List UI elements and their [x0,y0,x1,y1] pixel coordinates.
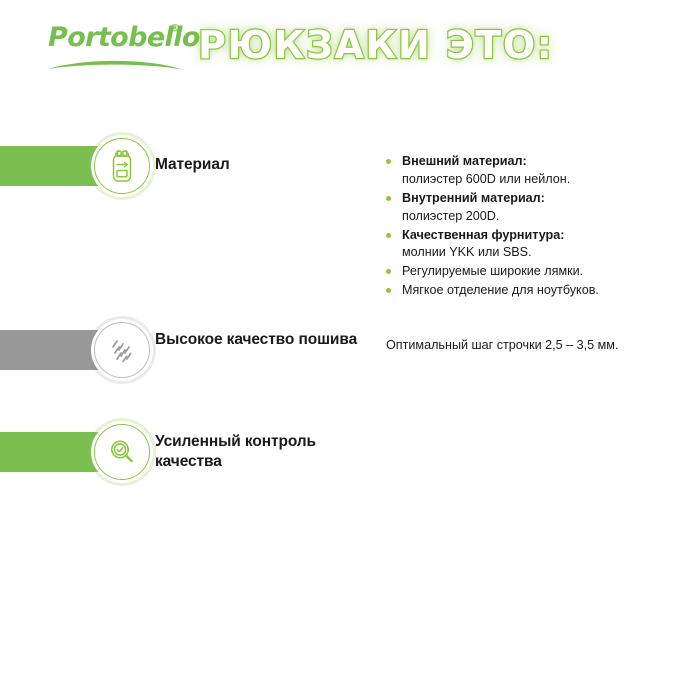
magnifier-check-icon [106,436,138,468]
bullet-dot-icon [386,269,391,274]
bullet-title: Внутренний материал: [402,190,676,208]
stitching-icon [106,334,138,366]
bullet-subtitle: полиэстер 600D или нейлон. [402,171,676,189]
list-item: Внешний материал: полиэстер 600D или ней… [386,153,676,189]
page-title-text: РЮКЗАКИ ЭТО: [198,23,553,67]
material-bullet-list: Внешний материал: полиэстер 600D или ней… [386,153,676,301]
page-title: РЮКЗАКИ ЭТО: [198,23,598,75]
bullet-subtitle: молнии YKK или SBS. [402,244,676,262]
bullet-dot-icon [386,159,391,164]
list-item: Регулируемые широкие лямки. [386,263,676,281]
row-label-sewing: Высокое качество пошива [155,330,365,350]
bullet-subtitle: полиэстер 200D. [402,208,676,226]
page-header: Portobello ® РЮКЗАКИ ЭТО: [0,0,700,95]
bullet-title: Регулируемые широкие лямки. [402,264,583,278]
list-item: Качественная фурнитура: молнии YKK или S… [386,227,676,263]
row-icon-badge-quality-control [91,421,153,483]
registered-trademark-icon: ® [170,23,180,34]
brand-logo: Portobello ® [48,22,196,74]
bullet-dot-icon [386,233,391,238]
bullet-title: Качественная фурнитура: [402,227,676,245]
bullet-dot-icon [386,196,391,201]
bullet-dot-icon [386,288,391,293]
row-icon-badge-sewing [91,319,153,381]
bullet-title: Внешний материал: [402,153,676,171]
sewing-note: Оптимальный шаг строчки 2,5 – 3,5 мм. [386,337,686,355]
list-item: Внутренний материал: полиэстер 200D. [386,190,676,226]
backpack-icon [107,149,137,183]
bullet-title: Мягкое отделение для ноутбуков. [402,283,599,297]
row-label-material: Материал [155,155,365,175]
row-label-quality-control: Усиленный контроль качества [155,432,365,473]
logo-swoosh-icon [46,56,186,72]
row-icon-badge-material [91,135,153,197]
list-item: Мягкое отделение для ноутбуков. [386,282,676,300]
